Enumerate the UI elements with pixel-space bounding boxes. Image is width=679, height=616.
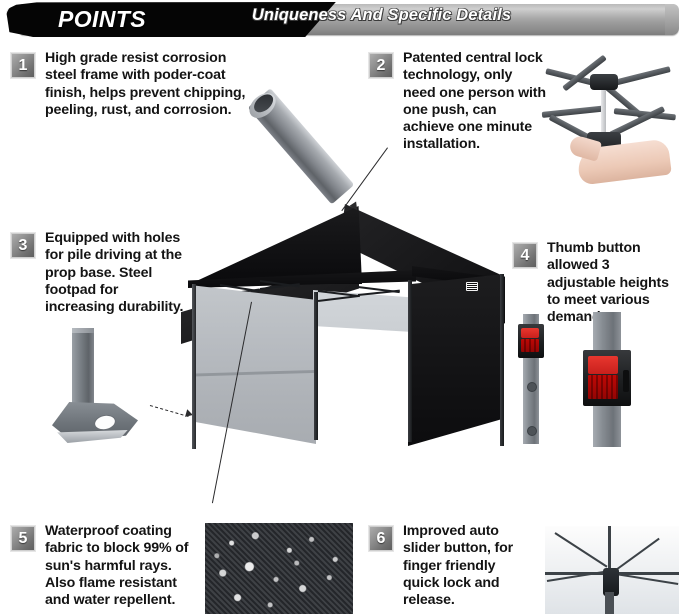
canopy-side-wall-gray (192, 282, 316, 444)
point-text-5: Waterproof coating fabric to block 99% o… (45, 523, 200, 609)
center-post (601, 86, 606, 138)
point-item-6: 6 Improved auto slider button, for finge… (368, 523, 533, 609)
points-tab-label: POINTS (58, 2, 146, 37)
housing-side-slot (623, 370, 629, 392)
under-canopy-slider-photo (545, 526, 679, 614)
canopy-back-wall (313, 290, 413, 440)
canopy-roof-front (190, 206, 362, 284)
point-text-3: Equipped with holes for pile driving at … (45, 230, 185, 316)
tent-leg-inner-right (408, 280, 412, 442)
center-pole-under (605, 592, 614, 614)
point-item-5: 5 Waterproof coating fabric to block 99%… (10, 523, 200, 609)
thumb-button-photo (505, 312, 679, 447)
point-item-3: 3 Equipped with holes for pile driving a… (10, 230, 185, 316)
point-text-1: High grade resist corrosion steel frame … (45, 50, 250, 119)
point-item-2: 2 Patented central lock technology, only… (368, 50, 548, 154)
tent-leg-front-right (500, 274, 504, 446)
steel-footpad-photo (50, 330, 180, 458)
upper-lock-hub (590, 74, 618, 90)
point-number-badge-3: 3 (10, 232, 36, 259)
leg-post (72, 330, 94, 410)
canopy-side-wall-black (408, 274, 504, 446)
point-text-6: Improved auto slider button, for finger … (403, 523, 533, 609)
header-banner: Uniqueness And Specific Details POINTS (0, 0, 679, 40)
waterproof-fabric-swatch (205, 523, 353, 614)
thumb-button-small (521, 328, 539, 338)
steel-tube-photo (255, 75, 360, 175)
point-number-badge-5: 5 (10, 525, 36, 552)
pop-up-canopy-tent (180, 198, 506, 473)
height-adjust-hole (527, 426, 537, 436)
thumb-button-large (588, 356, 618, 374)
point-number-badge-4: 4 (512, 242, 538, 269)
point-number-badge-2: 2 (368, 52, 394, 79)
point-item-1: 1 High grade resist corrosion steel fram… (10, 50, 250, 119)
tent-leg-front-left (192, 284, 196, 449)
point-number-badge-6: 6 (368, 525, 394, 552)
point-number-badge-1: 1 (10, 52, 36, 79)
leg-post-top-edge (72, 328, 94, 333)
thumb-button-grip-large (588, 375, 618, 399)
tent-leg-inner-left (314, 292, 318, 440)
central-lock-hand-photo (540, 48, 679, 178)
point-text-2: Patented central lock technology, only n… (403, 50, 548, 154)
height-adjust-hole (527, 382, 537, 392)
brand-logo-mark (467, 283, 477, 290)
thumb-button-grip-small (521, 339, 539, 352)
